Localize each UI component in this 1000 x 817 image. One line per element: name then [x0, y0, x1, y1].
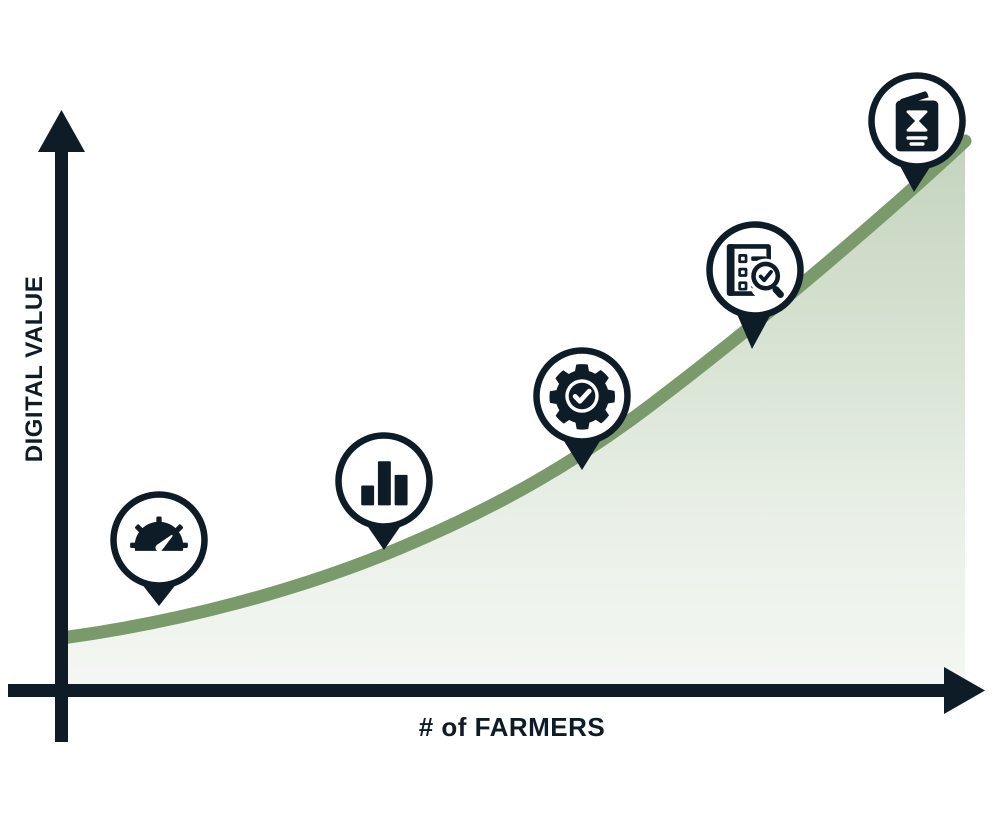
marker-1[interactable] [114, 495, 205, 607]
y-axis-label: DIGITAL VALUE [21, 259, 49, 479]
chart-canvas: DIGITAL VALUE # of FARMERS [0, 0, 1000, 817]
y-axis-line [55, 135, 68, 742]
gear-check-icon [549, 364, 615, 430]
x-axis-label: # of FARMERS [0, 712, 1000, 743]
growth-area-chart [0, 0, 1000, 817]
marker-2[interactable] [339, 436, 430, 551]
y-axis-arrow [38, 110, 85, 152]
x-axis-line [8, 684, 956, 697]
